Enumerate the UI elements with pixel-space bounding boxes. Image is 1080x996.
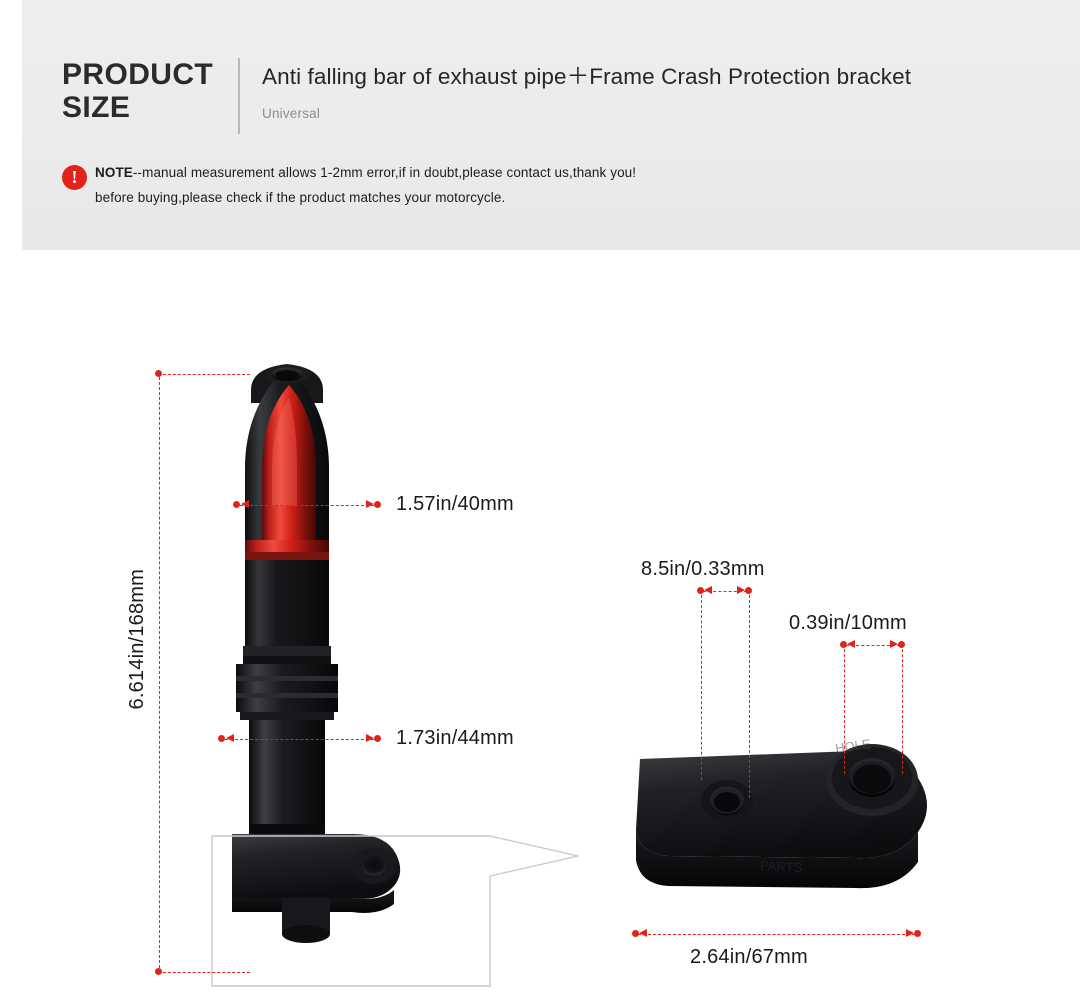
- cone-width-arrow-right: [366, 500, 374, 508]
- product-fitment: Universal: [262, 106, 911, 121]
- body-width-label: 1.73in/44mm: [396, 727, 514, 750]
- bracket-offset-label: 8.5in/0.33mm: [641, 558, 765, 581]
- page-title: PRODUCT SIZE: [62, 58, 237, 124]
- note-block: ! NOTE--manual measurement allows 1-2mm …: [62, 163, 962, 208]
- body-width-arrow-right: [366, 734, 374, 742]
- note-label: NOTE: [95, 165, 133, 180]
- bracket-length-arrow-right: [906, 929, 914, 937]
- note-line-1-text: --manual measurement allows 1-2mm error,…: [133, 165, 636, 180]
- product-subtitle-block: Anti falling bar of exhaust pipe＋Frame C…: [262, 62, 911, 121]
- body-width-line: [225, 739, 374, 740]
- bracket-hole-leader-right: [902, 644, 903, 774]
- product-diagram: HOLE PARTS 6.614in/168mm 1.57in/40mm 1.7…: [0, 258, 1080, 996]
- cone-width-dot-right: [374, 501, 381, 508]
- page-title-line1: PRODUCT: [62, 58, 213, 91]
- bracket-offset-leader-left: [701, 590, 702, 780]
- height-dim-line: [159, 377, 160, 968]
- note-line-2: before buying,please check if the produc…: [95, 188, 962, 208]
- bracket-offset-leader-right: [749, 590, 750, 798]
- bracket-hole-arrow-left: [847, 640, 855, 648]
- bracket-offset-arrow-right: [737, 586, 745, 594]
- height-dim-tick-bottom: [158, 972, 250, 973]
- body-width-dot-right: [374, 735, 381, 742]
- body-width-arrow-left: [226, 734, 234, 742]
- page-title-line2: SIZE: [62, 91, 130, 124]
- exclamation-icon: !: [62, 165, 87, 190]
- height-dim-label: 6.614in/168mm: [126, 569, 149, 709]
- bracket-length-arrow-left: [639, 929, 647, 937]
- title-divider: [238, 58, 240, 134]
- header-bottom-margin: [0, 250, 1080, 258]
- note-line-1: NOTE--manual measurement allows 1-2mm er…: [95, 163, 962, 183]
- bracket-length-dot-right: [914, 930, 921, 937]
- cone-width-label: 1.57in/40mm: [396, 493, 514, 516]
- height-dim-tick-top: [158, 374, 250, 375]
- cone-width-arrow-left: [241, 500, 249, 508]
- bracket-hole-arrow-right: [890, 640, 898, 648]
- bracket-length-label: 2.64in/67mm: [690, 946, 808, 969]
- cone-width-dot-left: [233, 501, 240, 508]
- body-width-dot-left: [218, 735, 225, 742]
- header-banner: PRODUCT SIZE Anti falling bar of exhaust…: [0, 0, 1080, 258]
- cone-width-line: [240, 505, 374, 506]
- header-left-margin: [0, 0, 22, 258]
- bracket-length-line: [638, 934, 915, 935]
- callout-bubble: [0, 258, 1080, 996]
- bracket-offset-arrow-left: [704, 586, 712, 594]
- bracket-hole-leader-left: [844, 644, 845, 774]
- bracket-hole-label: 0.39in/10mm: [789, 612, 907, 635]
- product-name: Anti falling bar of exhaust pipe＋Frame C…: [262, 62, 911, 92]
